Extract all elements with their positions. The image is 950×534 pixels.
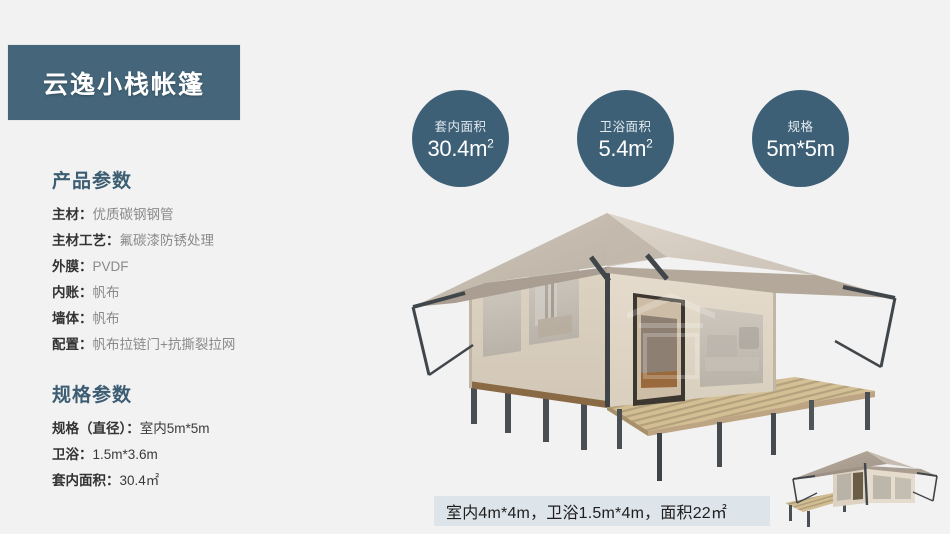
spec-row: 配置：帆布拉链门+抗撕裂拉网 bbox=[52, 332, 352, 358]
spec-value: 氟碳漆防锈处理 bbox=[120, 233, 215, 248]
spec-label: 外膜： bbox=[52, 259, 93, 274]
badge-label: 套内面积 bbox=[434, 116, 486, 135]
spec-value: PVDF bbox=[93, 259, 129, 274]
badge-value: 5.4m2 bbox=[598, 136, 652, 162]
spec-value: 帆布 bbox=[93, 311, 120, 326]
product-spec-page: 云逸小栈帐篷 产品参数 主材：优质碳钢钢管 主材工艺：氟碳漆防锈处理 外膜：PV… bbox=[0, 0, 950, 534]
spec-row: 内账：帆布 bbox=[52, 280, 352, 306]
title-banner: 云逸小栈帐篷 bbox=[8, 45, 240, 120]
badge-interior-area: 套内面积 30.4m2 bbox=[412, 90, 509, 187]
spec-row: 卫浴：1.5m*3.6m bbox=[52, 442, 352, 468]
caption-bar: 室内4m*4m，卫浴1.5m*4m，面积22㎡ bbox=[434, 496, 770, 526]
badge-label: 卫浴面积 bbox=[599, 116, 651, 135]
spec-value: 1.5m*3.6m bbox=[93, 447, 158, 462]
page-title: 云逸小栈帐篷 bbox=[43, 65, 205, 101]
safari-tent-thumbnail-illustration bbox=[775, 445, 945, 531]
spec-params-heading: 规格参数 bbox=[52, 380, 352, 407]
spec-label: 卫浴： bbox=[52, 447, 93, 462]
spec-value: 30.4㎡ bbox=[120, 473, 160, 488]
spec-label: 内账： bbox=[52, 285, 93, 300]
spec-column: 产品参数 主材：优质碳钢钢管 主材工艺：氟碳漆防锈处理 外膜：PVDF 内账：帆… bbox=[52, 166, 352, 494]
badge-bathroom-area: 卫浴面积 5.4m2 bbox=[577, 90, 674, 187]
spec-label: 墙体： bbox=[52, 311, 93, 326]
tent-thumbnail[interactable] bbox=[775, 445, 945, 531]
caption-text: 室内4m*4m，卫浴1.5m*4m，面积22㎡ bbox=[446, 499, 727, 523]
spec-row: 外膜：PVDF bbox=[52, 254, 352, 280]
spec-label: 主材： bbox=[52, 207, 93, 222]
badge-value: 5m*5m bbox=[766, 136, 834, 162]
spec-label: 配置： bbox=[52, 337, 93, 352]
spec-value: 帆布 bbox=[93, 285, 120, 300]
spec-row: 墙体：帆布 bbox=[52, 306, 352, 332]
badge-value: 30.4m2 bbox=[427, 136, 493, 162]
spec-label: 套内面积： bbox=[52, 473, 120, 488]
badge-label: 规格 bbox=[787, 116, 813, 135]
spec-value: 优质碳钢钢管 bbox=[93, 207, 174, 222]
spec-label: 主材工艺： bbox=[52, 233, 120, 248]
spec-row: 主材：优质碳钢钢管 bbox=[52, 202, 352, 228]
stat-badges: 套内面积 30.4m2 卫浴面积 5.4m2 规格 5m*5m bbox=[400, 90, 920, 190]
spec-row: 套内面积：30.4㎡ bbox=[52, 468, 352, 494]
product-params-heading: 产品参数 bbox=[52, 166, 352, 193]
spec-label: 规格（直径）： bbox=[52, 421, 140, 436]
spec-row: 主材工艺：氟碳漆防锈处理 bbox=[52, 228, 352, 254]
spec-value: 帆布拉链门+抗撕裂拉网 bbox=[93, 337, 236, 352]
spec-value: 室内5m*5m bbox=[140, 421, 210, 436]
spec-row: 规格（直径）：室内5m*5m bbox=[52, 416, 352, 442]
badge-dimensions: 规格 5m*5m bbox=[752, 90, 849, 187]
